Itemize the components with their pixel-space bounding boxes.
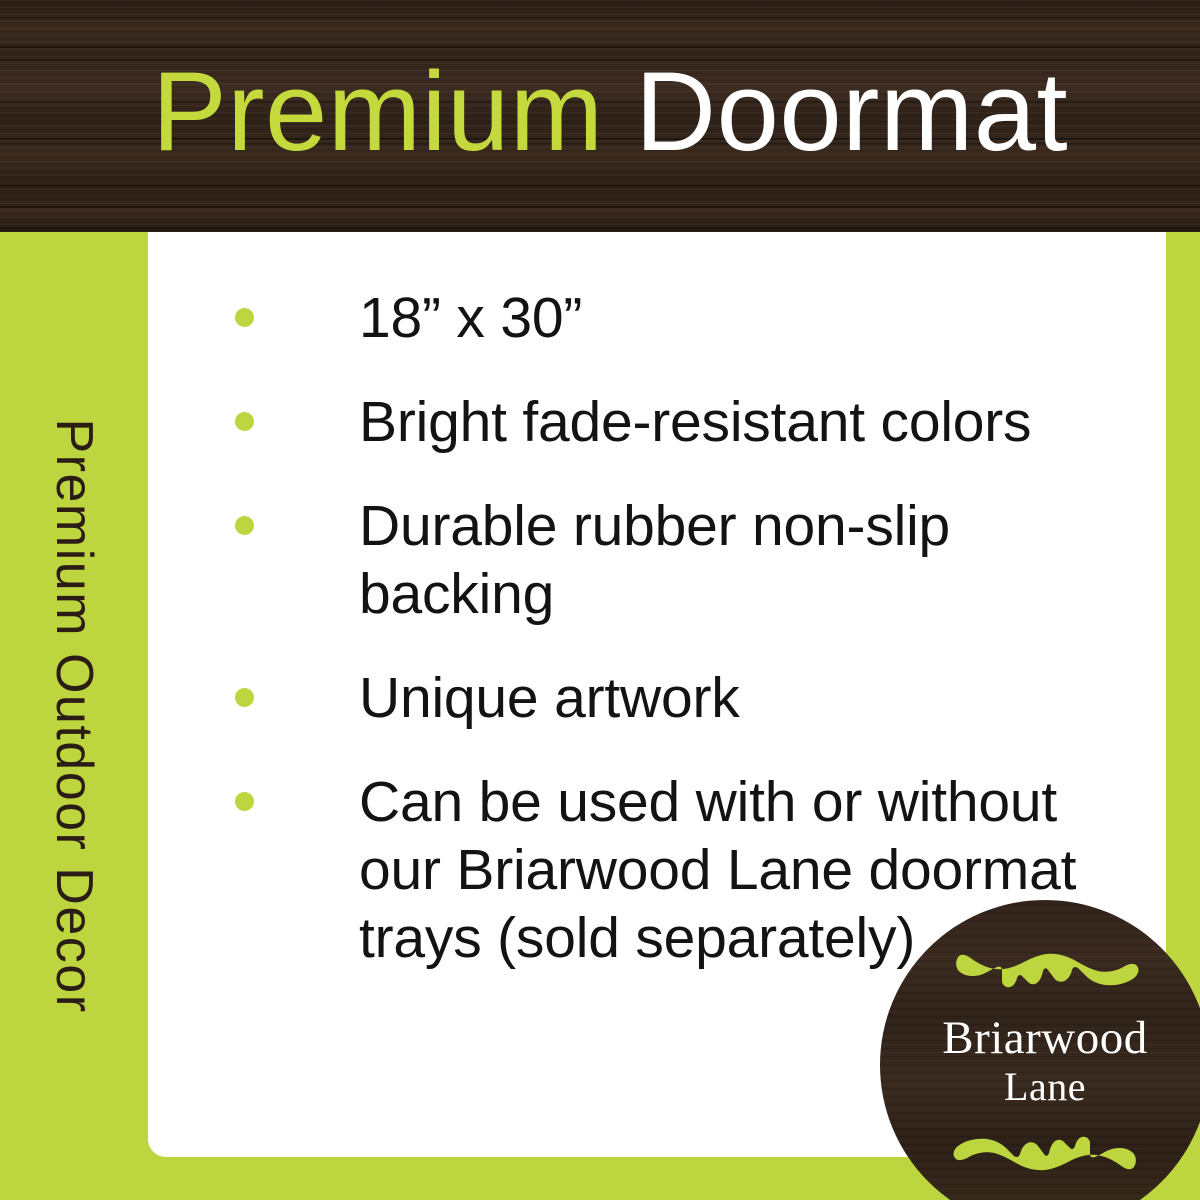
page-title-rest: Doormat [604, 49, 1069, 174]
page-title-highlight: Premium [152, 49, 604, 174]
wood-plank-seam [0, 46, 1200, 48]
oak-leaf-flourish-icon [950, 1114, 1142, 1172]
brand-name-primary: Briarwood [880, 1012, 1200, 1064]
list-item-label: 18” x 30” [359, 284, 1135, 352]
bullet-dot-icon [235, 792, 254, 811]
sidebar-category-label: Premium Outdoor Decor [46, 418, 102, 1013]
bullet-dot-icon [235, 308, 254, 327]
list-item-label: Unique artwork [359, 664, 1135, 732]
list-item-label: Durable rubber non-slip backing [359, 492, 1135, 628]
bullet-dot-icon [235, 688, 254, 707]
wood-plank-seam [0, 206, 1200, 208]
sidebar-category-banner: Premium Outdoor Decor [0, 232, 148, 1200]
bullet-dot-icon [235, 516, 254, 535]
page-title: Premium Doormat [152, 52, 1152, 172]
list-item: Durable rubber non-slip backing [235, 492, 1135, 628]
bullet-dot-icon [235, 412, 254, 431]
list-item: Bright fade-resistant colors [235, 388, 1135, 456]
list-item: Unique artwork [235, 664, 1135, 732]
product-feature-infographic: Premium Doormat Premium Outdoor Decor 18… [0, 0, 1200, 1200]
brand-name-secondary: Lane [880, 1064, 1200, 1110]
oak-leaf-flourish-icon [950, 952, 1142, 1010]
list-item-label: Bright fade-resistant colors [359, 388, 1135, 456]
brand-wordmark: Briarwood Lane [880, 1012, 1200, 1110]
list-item: 18” x 30” [235, 284, 1135, 352]
feature-list: 18” x 30” Bright fade-resistant colors D… [235, 284, 1135, 972]
header-banner: Premium Doormat [0, 0, 1200, 232]
